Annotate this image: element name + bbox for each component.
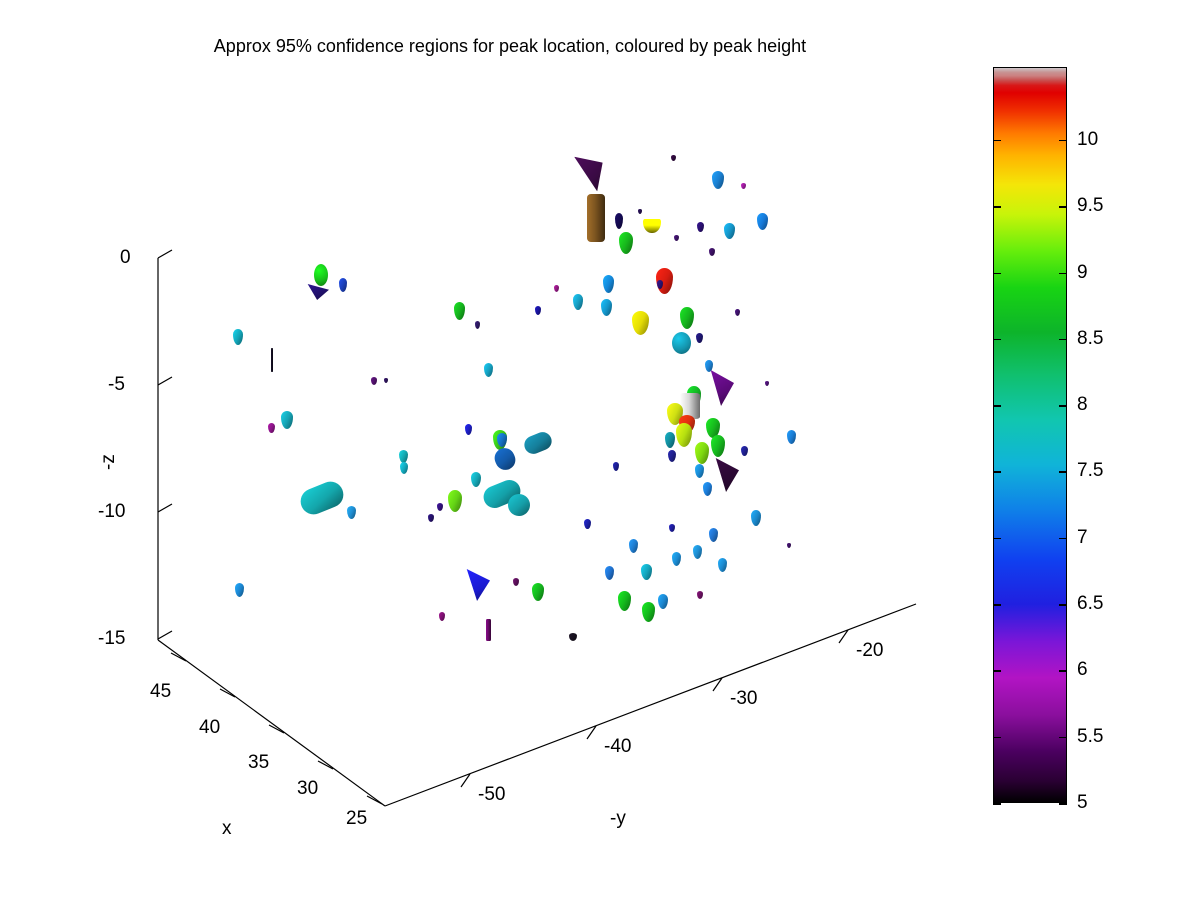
colorbar[interactable]: 109.598.587.576.565.55 <box>993 67 1067 803</box>
colorbar-tick-mark <box>1059 670 1067 672</box>
confidence-region-blob <box>573 294 583 310</box>
confidence-region-blob <box>554 285 559 292</box>
confidence-region-blob <box>718 558 727 572</box>
confidence-region-blob <box>680 307 694 329</box>
colorbar-tick-mark <box>993 737 1001 739</box>
confidence-region-blob <box>711 435 725 457</box>
colorbar-tick-label: 10 <box>1077 129 1098 151</box>
z-axis-label: -z <box>98 454 120 470</box>
confidence-region-blob <box>268 423 275 433</box>
colorbar-tick-mark <box>1059 140 1067 142</box>
colorbar-tick-mark <box>993 604 1001 606</box>
colorbar-border <box>993 67 1067 803</box>
confidence-region-blob <box>697 591 703 599</box>
confidence-region-blob <box>428 514 434 522</box>
z-tick-label-m15: -15 <box>98 628 125 650</box>
confidence-region-blob <box>281 411 293 429</box>
colorbar-tick-label: 9.5 <box>1077 195 1103 217</box>
colorbar-tick-label: 6.5 <box>1077 593 1103 615</box>
confidence-region-blob <box>705 360 713 372</box>
confidence-region-blob <box>672 552 681 566</box>
confidence-region-blob <box>709 528 718 542</box>
confidence-region-blob <box>454 302 465 320</box>
confidence-region-blob <box>522 429 555 456</box>
confidence-region-blob <box>584 519 591 529</box>
colorbar-tick-label: 8.5 <box>1077 328 1103 350</box>
colorbar-tick-label: 5.5 <box>1077 726 1103 748</box>
confidence-region-blob <box>741 183 746 189</box>
colorbar-tick-label: 9 <box>1077 262 1088 284</box>
confidence-region-blob <box>638 209 642 214</box>
confidence-region-blob <box>696 333 703 343</box>
z-tick-label-m10: -10 <box>98 501 125 523</box>
colorbar-tick-mark <box>1059 339 1067 341</box>
confidence-region-blob <box>751 510 761 526</box>
y-tick-label-m30: -30 <box>730 688 757 710</box>
confidence-region-blob <box>674 235 679 241</box>
confidence-region-blob <box>601 299 612 316</box>
confidence-region-blob <box>573 149 610 195</box>
confidence-region-blob <box>484 363 493 377</box>
confidence-region-blob <box>233 329 243 345</box>
colorbar-tick-mark <box>993 206 1001 208</box>
confidence-region-blob <box>658 594 668 609</box>
y-axis-label: -y <box>610 808 626 830</box>
colorbar-tick-mark <box>1059 405 1067 407</box>
colorbar-tick-mark <box>1059 604 1067 606</box>
colorbar-tick-mark <box>993 538 1001 540</box>
x-tick-label-30: 30 <box>297 778 318 800</box>
colorbar-tick-mark <box>993 273 1001 275</box>
confidence-region-blob <box>307 284 329 300</box>
confidence-region-blob <box>643 219 661 233</box>
confidence-region-blob <box>695 464 704 478</box>
confidence-region-blob <box>448 490 462 512</box>
confidence-region-blob <box>632 311 649 335</box>
confidence-region-blob <box>587 194 605 242</box>
colorbar-tick-mark <box>1059 737 1067 739</box>
confidence-region-blob <box>665 432 675 448</box>
confidence-region-blob <box>605 566 614 580</box>
confidence-region-blob <box>672 332 691 354</box>
x-tick-label-25: 25 <box>346 808 367 830</box>
confidence-region-blob <box>492 445 519 473</box>
colorbar-tick-label: 7 <box>1077 527 1088 549</box>
confidence-region-blob <box>765 381 769 386</box>
confidence-region-blob <box>710 370 734 406</box>
confidence-region-blob <box>613 462 619 471</box>
colorbar-tick-mark <box>1059 803 1067 805</box>
z-tick-label-0: 0 <box>120 247 131 269</box>
confidence-region-blob <box>618 591 631 611</box>
confidence-region-blob <box>466 569 490 601</box>
colorbar-tick-mark <box>993 405 1001 407</box>
confidence-region-blob <box>532 583 544 601</box>
confidence-region-blob <box>569 633 577 641</box>
confidence-region-blob <box>641 564 652 580</box>
y-tick-label-m50: -50 <box>478 784 505 806</box>
confidence-region-blob <box>271 348 273 372</box>
confidence-region-blob <box>471 472 481 487</box>
confidence-region-blob <box>615 213 623 229</box>
confidence-region-blob <box>703 482 712 496</box>
z-tick-label-m5: -5 <box>108 374 125 396</box>
confidence-region-blob <box>339 278 347 292</box>
confidence-region-blob <box>314 264 328 286</box>
confidence-region-blob <box>535 306 541 315</box>
confidence-region-blob <box>735 309 740 316</box>
confidence-region-blob <box>715 458 739 492</box>
confidence-region-blob <box>371 377 377 385</box>
colorbar-tick-mark <box>1059 273 1067 275</box>
confidence-region-blob <box>741 446 748 456</box>
confidence-region-blob <box>347 506 356 519</box>
confidence-region-blob <box>475 321 480 329</box>
confidence-region-blob <box>709 248 715 256</box>
confidence-region-blob <box>668 450 676 462</box>
colorbar-tick-mark <box>993 670 1001 672</box>
colorbar-tick-label: 7.5 <box>1077 460 1103 482</box>
confidence-region-blob <box>671 155 676 161</box>
confidence-region-blob <box>642 602 655 622</box>
y-tick-label-m20: -20 <box>856 640 883 662</box>
x-tick-label-40: 40 <box>199 717 220 739</box>
confidence-region-blob <box>439 612 445 621</box>
confidence-region-blob <box>712 171 724 189</box>
confidence-region-blob <box>297 478 348 519</box>
confidence-region-blob <box>787 430 796 444</box>
colorbar-tick-mark <box>1059 538 1067 540</box>
confidence-region-blob <box>757 213 768 230</box>
colorbar-tick-label: 6 <box>1077 659 1088 681</box>
confidence-region-blob <box>486 619 491 641</box>
confidence-region-blob <box>657 280 663 289</box>
colorbar-tick-mark <box>993 140 1001 142</box>
x-tick-label-35: 35 <box>248 752 269 774</box>
confidence-region-blob <box>629 539 638 553</box>
confidence-region-blob <box>724 223 735 239</box>
colorbar-tick-mark <box>1059 471 1067 473</box>
confidence-region-blob <box>437 503 443 511</box>
confidence-region-blob <box>384 378 388 383</box>
confidence-region-blob <box>513 578 519 586</box>
confidence-region-blob <box>697 222 704 232</box>
colorbar-tick-mark <box>993 803 1001 805</box>
colorbar-tick-mark <box>993 471 1001 473</box>
confidence-region-blob <box>400 462 408 474</box>
colorbar-tick-label: 8 <box>1077 394 1088 416</box>
x-tick-label-45: 45 <box>150 681 171 703</box>
x-axis-label: x <box>222 818 232 840</box>
figure-canvas: Approx 95% confidence regions for peak l… <box>0 0 1200 900</box>
y-tick-label-m40: -40 <box>604 736 631 758</box>
colorbar-tick-mark <box>993 339 1001 341</box>
colorbar-tick-label: 5 <box>1077 792 1088 814</box>
confidence-region-blob <box>465 424 472 435</box>
confidence-region-blob <box>787 543 791 548</box>
confidence-region-blob <box>619 232 633 254</box>
confidence-region-blob <box>695 442 709 464</box>
confidence-region-blob <box>399 450 408 463</box>
colorbar-tick-mark <box>1059 206 1067 208</box>
confidence-region-blob <box>235 583 244 597</box>
confidence-region-blob <box>669 524 675 532</box>
confidence-region-blob <box>693 545 702 559</box>
confidence-region-blob <box>603 275 614 293</box>
confidence-region-blob <box>676 423 692 447</box>
